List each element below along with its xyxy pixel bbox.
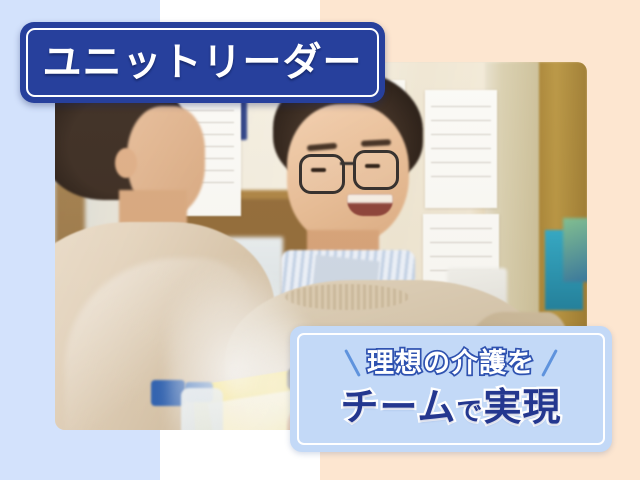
eyeglasses-bridge: [340, 162, 354, 165]
recruitment-banner: ユニットリーダー 理想の介護を チームで実現: [0, 0, 640, 480]
wall-document: [425, 90, 497, 208]
staff-eye: [365, 164, 380, 168]
staff-teeth: [347, 194, 393, 203]
caption-box: 理想の介護を チームで実現: [290, 326, 612, 452]
slash-right-icon: [541, 349, 558, 377]
colleague-ear: [115, 148, 137, 178]
caption-line-2-part-1: チーム: [341, 385, 457, 429]
caption-line-1: 理想の介護を: [290, 348, 612, 378]
caption-line-1-text: 理想の介護を: [367, 350, 535, 377]
slash-left-icon: [344, 349, 361, 377]
caption-line-2-part-2: で: [456, 397, 483, 427]
eyeglasses-left-lens: [299, 154, 345, 194]
staff-smile: [347, 194, 393, 216]
eyeglasses-right-lens: [353, 150, 399, 190]
staff-eye: [311, 168, 326, 172]
title-badge: ユニットリーダー: [20, 22, 385, 103]
caption-line-2-part-3: 実現: [483, 385, 561, 429]
title-badge-label: ユニットリーダー: [20, 43, 385, 82]
teal-poster-2: [563, 218, 587, 282]
caption-line-2: チームで実現: [290, 388, 612, 426]
